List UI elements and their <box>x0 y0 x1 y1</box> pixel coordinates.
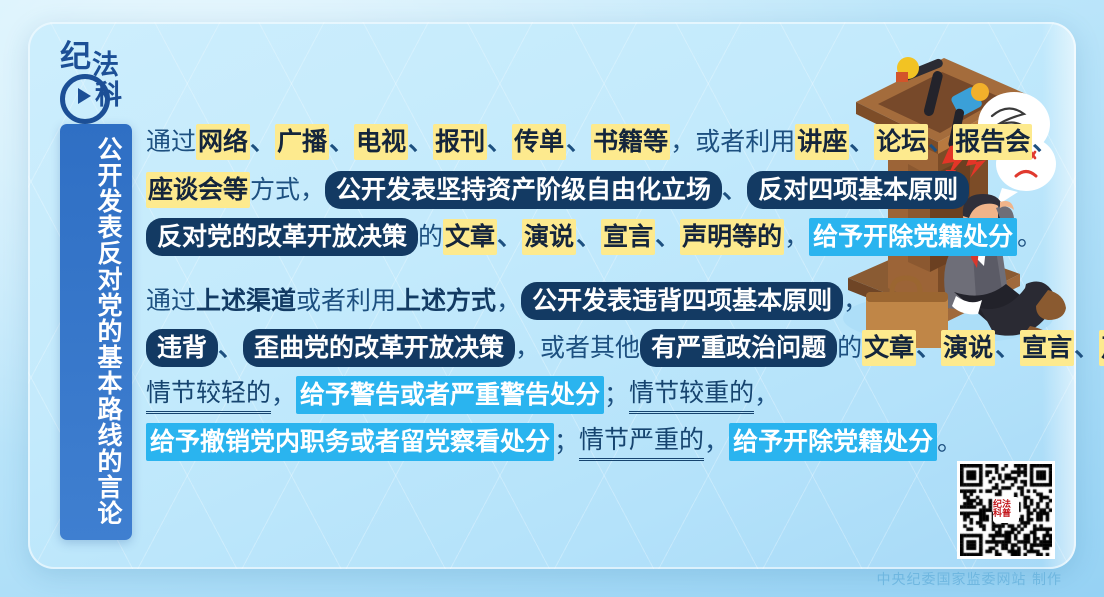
yellow-highlight-phrase: 电视 <box>354 124 408 160</box>
plain-text: ，或者其他 <box>515 331 640 365</box>
blue-highlight-phrase: 给予撤销党内职务或者留党察看处分 <box>146 423 554 461</box>
plain-text: 、 <box>1074 331 1099 365</box>
navy-pill-phrase: 反对党的改革开放决策 <box>146 218 418 256</box>
plain-text: 的 <box>837 331 862 365</box>
plain-text: 方式， <box>250 173 325 207</box>
plain-text: 、 <box>655 220 680 254</box>
plain-text: ， <box>754 378 779 412</box>
plain-text: 或者利用 <box>296 284 396 318</box>
plain-text: 、 <box>995 331 1020 365</box>
plain-text: ，或者利用 <box>670 125 795 159</box>
plain-text: ， <box>843 284 868 318</box>
yellow-highlight-phrase: 广播 <box>275 124 329 160</box>
blue-highlight-phrase: 给予开除党籍处分 <box>809 218 1017 256</box>
text-line: 情节较轻的，给予警告或者严重警告处分；情节较重的， <box>146 376 876 414</box>
plain-text: 、 <box>916 331 941 365</box>
plain-text: 、 <box>218 331 243 365</box>
text-line: 给予撤销党内职务或者留党察看处分；情节严重的，给予开除党籍处分。 <box>146 423 876 461</box>
yellow-highlight-phrase: 报告会 <box>953 124 1032 160</box>
plain-text: 、 <box>497 220 522 254</box>
yellow-highlight-phrase: 报刊 <box>433 124 487 160</box>
yellow-highlight-phrase: 座谈会等 <box>146 172 250 208</box>
navy-pill-phrase: 歪曲党的改革开放决策 <box>243 329 515 367</box>
blue-highlight-phrase: 给予警告或者严重警告处分 <box>296 376 604 414</box>
vertical-title-banner: 公开发表反对党的基本路线的言论 <box>60 124 132 540</box>
plain-text: 。 <box>937 425 962 459</box>
yellow-highlight-phrase: 宣言 <box>1020 330 1074 366</box>
yellow-highlight-phrase: 文章 <box>443 219 497 255</box>
yellow-highlight-phrase: 宣言 <box>601 219 655 255</box>
yellow-highlight-phrase: 演说 <box>941 330 995 366</box>
navy-pill-phrase: 反对四项基本原则 <box>747 171 969 209</box>
blue-highlight-phrase: 给予开除党籍处分 <box>729 423 937 461</box>
plain-text: ， <box>271 378 296 412</box>
plain-text: 、 <box>566 125 591 159</box>
navy-pill-phrase: 公开发表违背四项基本原则 <box>521 282 843 320</box>
plain-text: 、 <box>1032 125 1057 159</box>
plain-text: 、 <box>576 220 601 254</box>
yellow-highlight-phrase: 书籍等 <box>591 124 670 160</box>
plain-text: 。 <box>1017 220 1042 254</box>
yellow-highlight-phrase: 讲座 <box>795 124 849 160</box>
plain-text: 、 <box>408 125 433 159</box>
underlined-phrase: 情节较重的 <box>629 376 754 414</box>
plain-text: 通过 <box>146 125 196 159</box>
yellow-highlight-phrase: 网络 <box>196 124 250 160</box>
text-line: 座谈会等方式，公开发表坚持资产阶级自由化立场、反对四项基本原则 <box>146 171 876 209</box>
navy-pill-phrase: 违背 <box>146 329 218 367</box>
plain-text: 、 <box>722 173 747 207</box>
underlined-phrase: 情节较轻的 <box>146 376 271 414</box>
infographic-canvas: 纪 法 科 公开发表反对党的基本路线的言论 通过网络、广播、电视、报刊、传单、书… <box>0 0 1104 597</box>
yellow-highlight-phrase: 演说 <box>522 219 576 255</box>
plain-text: ； <box>554 425 579 459</box>
plain-text: 、 <box>928 125 953 159</box>
plain-text: ， <box>704 425 729 459</box>
yellow-highlight-phrase: 论坛 <box>874 124 928 160</box>
text-line: 反对党的改革开放决策的文章、演说、宣言、声明等的，给予开除党籍处分。 <box>146 218 876 256</box>
brand-logo: 纪 法 科 <box>52 44 136 118</box>
text-line: 通过网络、广播、电视、报刊、传单、书籍等，或者利用讲座、论坛、报告会、 <box>146 124 876 162</box>
qr-center-logo: 纪法科普 <box>993 497 1019 523</box>
text-line: 违背、歪曲党的改革开放决策，或者其他有严重政治问题的文章、演说、宣言、声明等， <box>146 329 876 367</box>
yellow-highlight-phrase: 文章 <box>862 330 916 366</box>
navy-pill-phrase: 公开发表坚持资产阶级自由化立场 <box>325 171 722 209</box>
credit-text: 中央纪委国家监委网站 制作 <box>877 569 1062 589</box>
text-line: 通过上述渠道或者利用上述方式，公开发表违背四项基本原则， <box>146 282 876 320</box>
plain-text: 、 <box>849 125 874 159</box>
logo-char-fa: 法 <box>92 52 119 79</box>
plain-text: ， <box>496 284 521 318</box>
plain-text: 通过 <box>146 284 196 318</box>
qr-code[interactable]: 纪法科普 <box>957 461 1055 559</box>
plain-text: 、 <box>329 125 354 159</box>
plain-text: 上述渠道 <box>196 284 296 318</box>
play-circle-icon <box>60 74 110 124</box>
logo-char-ji: 纪 <box>60 42 91 73</box>
yellow-highlight-phrase: 声明等的 <box>680 219 784 255</box>
article-body: 通过网络、广播、电视、报刊、传单、书籍等，或者利用讲座、论坛、报告会、座谈会等方… <box>146 124 876 487</box>
paragraph: 通过上述渠道或者利用上述方式，公开发表违背四项基本原则，违背、歪曲党的改革开放决… <box>146 282 876 461</box>
plain-text: ， <box>784 220 809 254</box>
yellow-highlight-phrase: 传单 <box>512 124 566 160</box>
yellow-highlight-phrase: 声明等 <box>1099 330 1104 366</box>
brand-badge: 纪 法 科 公开发表反对党的基本路线的言论 <box>52 44 136 514</box>
navy-pill-phrase: 有严重政治问题 <box>640 329 837 367</box>
plain-text: 、 <box>250 125 275 159</box>
plain-text: 、 <box>487 125 512 159</box>
plain-text: 上述方式 <box>396 284 496 318</box>
underlined-phrase: 情节严重的 <box>579 423 704 461</box>
plain-text: 的 <box>418 220 443 254</box>
plain-text: ； <box>604 378 629 412</box>
paragraph: 通过网络、广播、电视、报刊、传单、书籍等，或者利用讲座、论坛、报告会、座谈会等方… <box>146 124 876 256</box>
